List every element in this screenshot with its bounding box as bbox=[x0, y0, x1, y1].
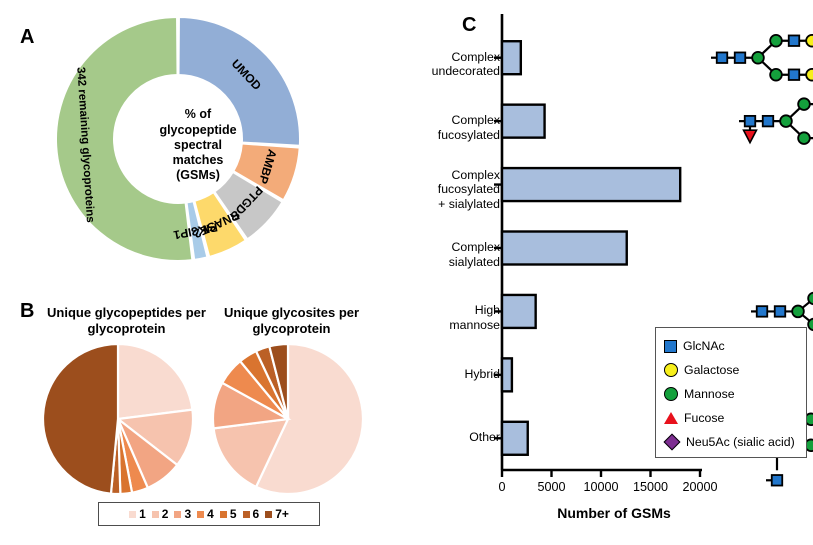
legend-swatch-icon bbox=[220, 511, 227, 518]
legend-item-count-7plus: 7+ bbox=[265, 507, 289, 521]
glycan-legend-label: Neu5Ac (sialic acid) bbox=[686, 435, 795, 449]
bar bbox=[502, 168, 680, 201]
pie-slice bbox=[43, 344, 118, 494]
glcnac-icon bbox=[789, 69, 800, 80]
x-axis-title: Number of GSMs bbox=[484, 505, 744, 521]
legend-label: 1 bbox=[139, 507, 146, 521]
legend-swatch-icon bbox=[265, 511, 272, 518]
category-label: Complex fucosylated bbox=[438, 113, 500, 142]
panel-b-pies bbox=[40, 342, 380, 497]
glycan-legend-label: Fucose bbox=[684, 411, 724, 425]
panel-c-bar-chart: x 1-6 Complex undecoratedComplex fucosyl… bbox=[462, 0, 813, 545]
glcnac-icon bbox=[735, 52, 746, 63]
legend-label: 2 bbox=[162, 507, 169, 521]
fucose-icon bbox=[744, 130, 757, 143]
legend-label: 3 bbox=[184, 507, 191, 521]
mannose-icon bbox=[664, 387, 678, 401]
panel-a-letter: A bbox=[20, 26, 34, 49]
fucose-icon bbox=[664, 412, 678, 424]
bar bbox=[502, 41, 521, 74]
glcnac-icon bbox=[745, 116, 756, 127]
donut-center-text: % ofglycopeptidespectralmatches(GSMs) bbox=[138, 88, 258, 203]
legend-item-count-2: 2 bbox=[152, 507, 169, 521]
legend-swatch-icon bbox=[174, 511, 181, 518]
panel-b-legend: 1234567+ bbox=[98, 502, 320, 526]
glycan-legend-row: GlcNAc bbox=[664, 334, 806, 358]
glcnac-icon bbox=[772, 475, 783, 486]
x-tick-label: 20000 bbox=[673, 480, 727, 494]
legend-swatch-icon bbox=[152, 511, 159, 518]
x-tick-label: 5000 bbox=[525, 480, 579, 494]
donut-center-line: (GSMs) bbox=[176, 168, 220, 183]
glcnac-icon bbox=[775, 306, 786, 317]
bar bbox=[502, 358, 512, 391]
glycan-legend: GlcNAcGalactoseMannoseFucoseNeu5Ac (sial… bbox=[655, 327, 807, 458]
category-label: Hybrid bbox=[464, 367, 500, 382]
bar bbox=[502, 105, 545, 138]
glycan-legend-label: Mannose bbox=[684, 387, 735, 401]
glycan-legend-row: Fucose bbox=[664, 406, 806, 430]
pie-glycosites-per-glycoprotein bbox=[213, 344, 363, 494]
category-label: Complex undecorated bbox=[432, 50, 500, 79]
glcnac-icon bbox=[664, 340, 677, 353]
glycan-legend-row: Mannose bbox=[664, 382, 806, 406]
mannose-icon bbox=[770, 69, 782, 81]
donut-center-line: matches bbox=[173, 153, 224, 168]
x-tick-label: 15000 bbox=[624, 480, 678, 494]
glycan-legend-label: Galactose bbox=[684, 363, 739, 377]
mannose-icon bbox=[792, 306, 804, 318]
x-tick-label: 0 bbox=[475, 480, 529, 494]
donut-center-line: % of bbox=[185, 107, 211, 122]
mannose-icon bbox=[808, 293, 813, 305]
glycan-legend-row: Neu5Ac (sialic acid) bbox=[664, 430, 806, 454]
category-label: Other bbox=[469, 430, 500, 445]
mannose-icon bbox=[808, 319, 813, 331]
glcnac-icon bbox=[717, 52, 728, 63]
panel-b-letter: B bbox=[20, 300, 34, 323]
glcnac-icon bbox=[789, 35, 800, 46]
legend-item-count-3: 3 bbox=[174, 507, 191, 521]
legend-label: 5 bbox=[230, 507, 237, 521]
legend-label: 4 bbox=[207, 507, 214, 521]
legend-item-count-1: 1 bbox=[129, 507, 146, 521]
glcnac-icon bbox=[757, 306, 768, 317]
glcnac-icon bbox=[763, 116, 774, 127]
legend-label: 7+ bbox=[275, 507, 289, 521]
legend-swatch-icon bbox=[129, 511, 136, 518]
galactose-icon bbox=[806, 35, 813, 47]
panel-b-titles: Unique glycopeptides per glycoprotein Un… bbox=[44, 305, 374, 336]
legend-item-count-5: 5 bbox=[220, 507, 237, 521]
category-label: Complex sialylated bbox=[449, 240, 500, 269]
legend-item-count-6: 6 bbox=[243, 507, 260, 521]
panel-c-svg: x 1-6 bbox=[462, 0, 813, 545]
donut-center-line: glycopeptide bbox=[159, 123, 236, 138]
pie-title-glycopeptides: Unique glycopeptides per glycoprotein bbox=[44, 305, 209, 336]
bar bbox=[502, 422, 528, 455]
category-label: High mannose bbox=[449, 303, 500, 332]
glycan-legend-label: GlcNAc bbox=[683, 339, 725, 353]
galactose-icon bbox=[664, 363, 678, 377]
category-label: Complex fucosylated + sialylated bbox=[438, 168, 500, 212]
neu5ac-icon bbox=[664, 434, 681, 451]
legend-item-count-4: 4 bbox=[197, 507, 214, 521]
mannose-icon bbox=[770, 35, 782, 47]
pie-glycopeptides-per-glycoprotein bbox=[43, 344, 193, 494]
bar bbox=[502, 295, 536, 328]
pie-title-glycosites: Unique glycosites per glycoprotein bbox=[209, 305, 374, 336]
donut-center-line: spectral bbox=[174, 138, 222, 153]
legend-swatch-icon bbox=[243, 511, 250, 518]
mannose-icon bbox=[798, 132, 810, 144]
legend-swatch-icon bbox=[197, 511, 204, 518]
galactose-icon bbox=[806, 69, 813, 81]
legend-label: 6 bbox=[253, 507, 260, 521]
mannose-icon bbox=[798, 98, 810, 110]
pie-slice bbox=[118, 344, 192, 419]
bar bbox=[502, 232, 627, 265]
glycan-legend-row: Galactose bbox=[664, 358, 806, 382]
donut-chart-gsm-distribution: UMODAMBPPTGDSRNASE2PIK3IP1342 remaining … bbox=[48, 8, 308, 270]
panel-b-svg bbox=[40, 342, 380, 497]
mannose-icon bbox=[752, 52, 764, 64]
x-tick-label: 10000 bbox=[574, 480, 628, 494]
mannose-icon bbox=[780, 115, 792, 127]
bar-chart-bars bbox=[502, 41, 680, 455]
